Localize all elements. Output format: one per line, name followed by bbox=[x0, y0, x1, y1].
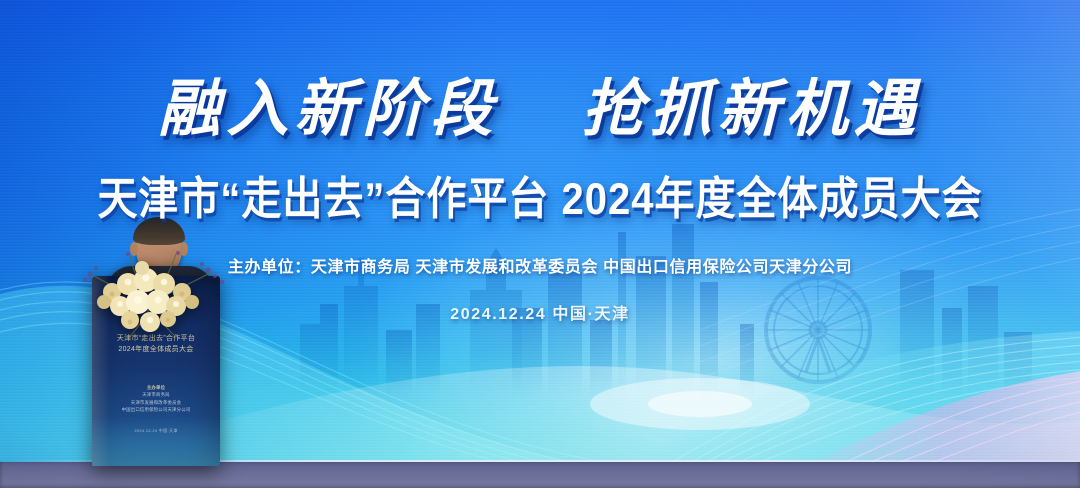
conference-backdrop-photo: 天津市“走出去”合作平台 2024年度全体成员大会 主办单位 天津市商务局 天津… bbox=[0, 0, 1080, 488]
event-datetime: 2024.12.24 中国·天津 bbox=[0, 300, 1080, 324]
headline-part-1: 融入新阶段 bbox=[158, 72, 498, 145]
backdrop-text-block: 融入新阶段 抢抓新机遇 天津市“走出去”合作平台 2024年度全体成员大会 主办… bbox=[0, 0, 1080, 488]
headline-part-2: 抢抓新机遇 bbox=[582, 72, 922, 145]
event-organizers: 主办单位：天津市商务局 天津市发展和改革委员会 中国出口信用保险公司天津分公司 bbox=[0, 253, 1080, 277]
event-headline: 融入新阶段 抢抓新机遇 bbox=[0, 78, 1080, 140]
event-subtitle: 天津市“走出去”合作平台 2024年度全体成员大会 bbox=[0, 176, 1080, 224]
